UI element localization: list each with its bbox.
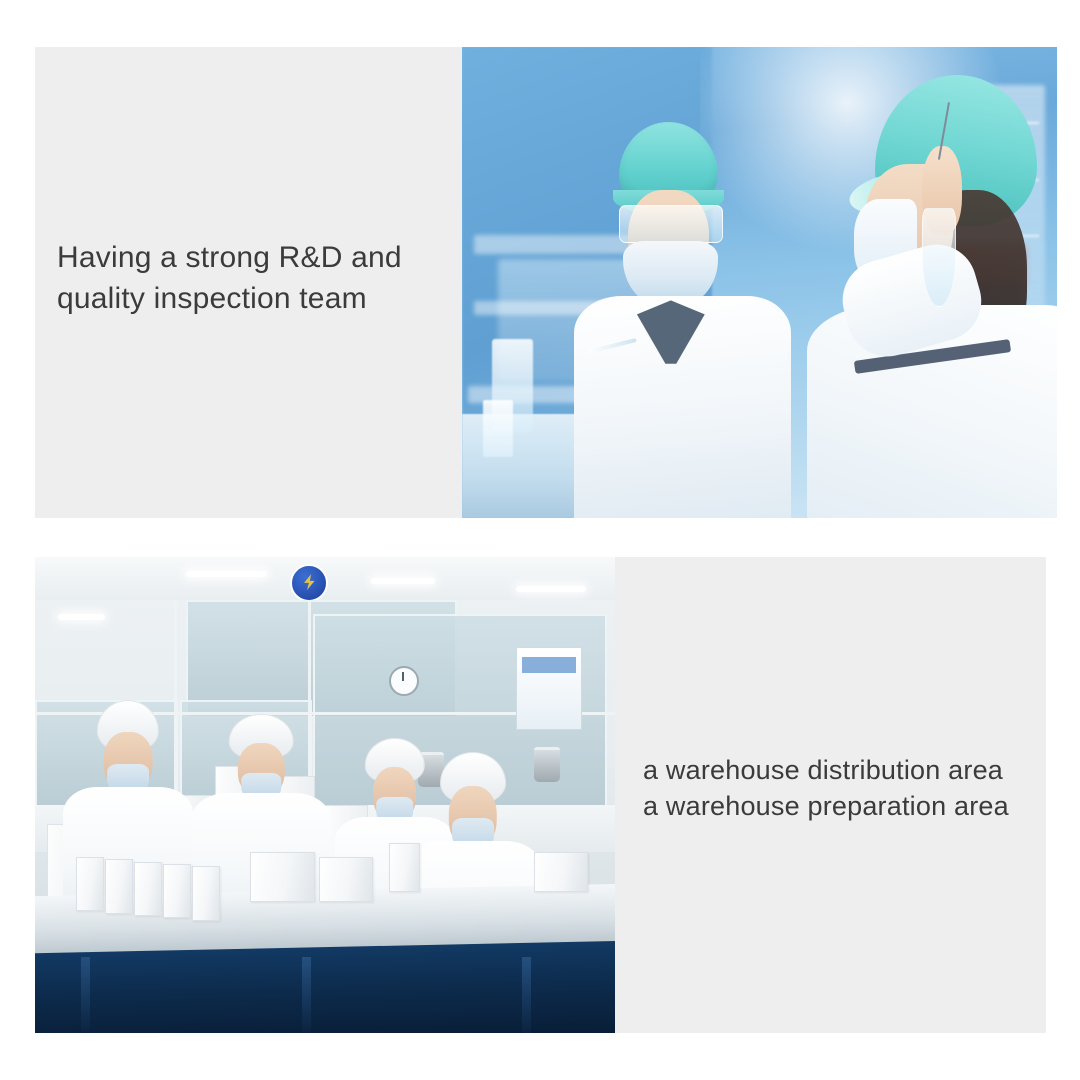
ceiling-light bbox=[186, 571, 267, 577]
lab-beaker-small bbox=[483, 400, 513, 457]
lab-technicians-photo bbox=[462, 47, 1057, 518]
product-carton bbox=[389, 843, 420, 893]
product-carton bbox=[319, 857, 373, 902]
section-rnd-quality: Having a strong R&D and quality inspecti… bbox=[35, 47, 1057, 518]
table-leg bbox=[302, 957, 311, 1033]
wall-notice-board bbox=[516, 647, 582, 730]
rnd-caption-text: Having a strong R&D and quality inspecti… bbox=[35, 237, 412, 319]
lab-technician-profile bbox=[807, 75, 1057, 518]
warehouse-packing-photo bbox=[35, 557, 615, 1033]
stainless-canister bbox=[534, 747, 560, 782]
warehouse-caption-text: a warehouse distribution area a warehous… bbox=[615, 752, 1015, 824]
product-carton bbox=[76, 857, 104, 911]
product-carton bbox=[163, 864, 191, 918]
glass-flask bbox=[922, 208, 955, 307]
warehouse-caption-panel: a warehouse distribution area a warehous… bbox=[615, 557, 1046, 1033]
rnd-caption-panel: Having a strong R&D and quality inspecti… bbox=[35, 47, 463, 518]
product-carton bbox=[192, 866, 220, 920]
lab-technician-front bbox=[569, 122, 795, 518]
safety-goggles bbox=[619, 205, 723, 243]
product-carton bbox=[105, 859, 133, 913]
ceiling-light bbox=[58, 614, 104, 620]
product-carton bbox=[134, 862, 162, 916]
ceiling-light bbox=[371, 578, 435, 584]
ceiling-light bbox=[516, 586, 586, 592]
slide-canvas: Having a strong R&D and quality inspecti… bbox=[0, 0, 1080, 1080]
product-carton bbox=[250, 852, 316, 902]
table-leg bbox=[81, 957, 90, 1033]
table-leg bbox=[522, 957, 531, 1033]
product-carton bbox=[534, 852, 588, 892]
section-warehouse-areas: a warehouse distribution area a warehous… bbox=[35, 557, 1046, 1033]
